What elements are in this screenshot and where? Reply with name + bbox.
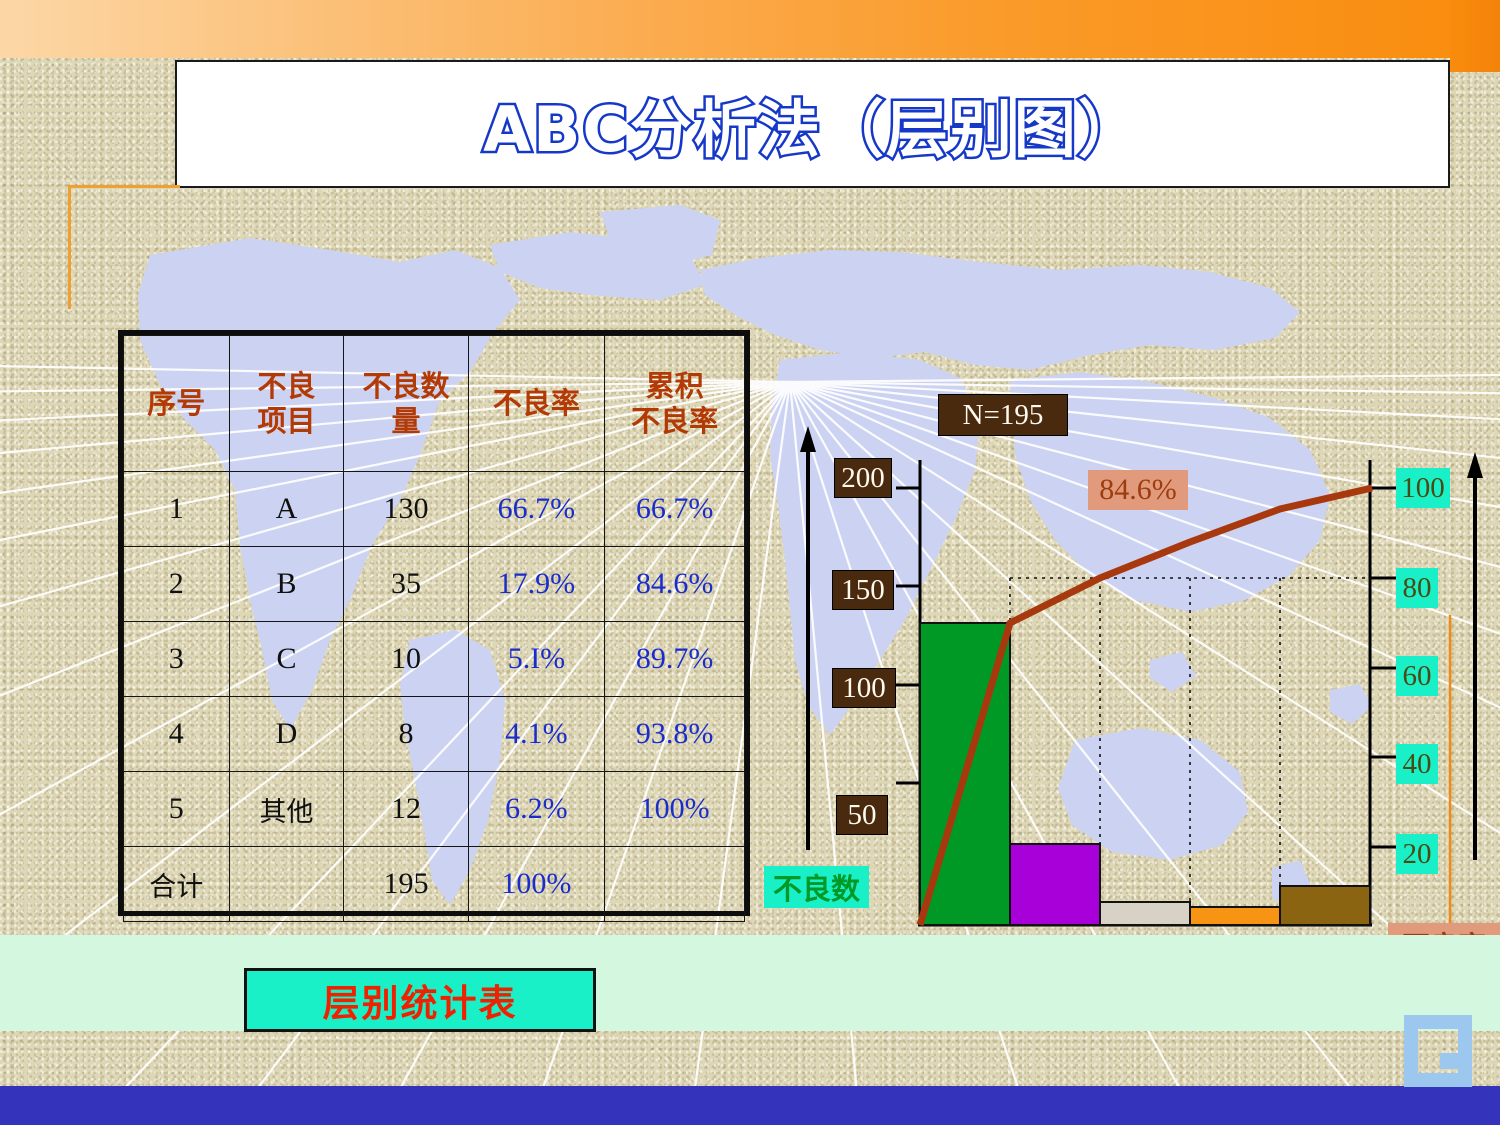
table-row: 3 C 10 5.I% 89.7%: [124, 622, 745, 697]
cell-count: 10: [344, 622, 468, 697]
bar-series: [920, 623, 1370, 925]
page-title: ABC分析法（层别图）: [483, 79, 1142, 169]
y2-tick-label-80: 80: [1396, 568, 1438, 608]
cell-cum: 89.7%: [605, 622, 745, 697]
cell-item: B: [229, 547, 344, 622]
cell-total-rate: 100%: [468, 847, 605, 922]
cell-count: 12: [344, 772, 468, 847]
table-row: 5 其他 12 6.2% 100%: [124, 772, 745, 847]
cell-total-label: 合计: [124, 847, 230, 922]
y-axis-title: 不良数: [764, 866, 869, 908]
cell-rate: 6.2%: [468, 772, 605, 847]
y-tick-label-200: 200: [834, 458, 892, 498]
cumulative-callout-label: 84.6%: [1088, 470, 1188, 510]
bar-other: [1280, 886, 1370, 925]
cell-no: 2: [124, 547, 230, 622]
caption-band: [0, 935, 1500, 1031]
y-tick-label-150: 150: [832, 570, 894, 610]
y2-tick-label-60: 60: [1396, 656, 1438, 696]
cell-cum: 100%: [605, 772, 745, 847]
cell-total-cum: [605, 847, 745, 922]
cell-item: C: [229, 622, 344, 697]
cell-cum: 66.7%: [605, 472, 745, 547]
sample-size-label: N=195: [938, 394, 1068, 436]
cell-item: A: [229, 472, 344, 547]
cell-rate: 66.7%: [468, 472, 605, 547]
caption-text: 层别统计表: [323, 973, 518, 1027]
cell-rate: 5.I%: [468, 622, 605, 697]
cell-total-count: 195: [344, 847, 468, 922]
cell-count: 130: [344, 472, 468, 547]
cell-item: D: [229, 697, 344, 772]
cell-count: 8: [344, 697, 468, 772]
left-axis-ticks: [896, 488, 920, 783]
top-accent-band-right: [1450, 0, 1500, 72]
cell-item: 其他: [229, 772, 344, 847]
col-header-no: 序号: [124, 336, 230, 472]
decorative-corner-shape: [1402, 1013, 1474, 1087]
title-plate: ABC分析法（层别图）: [175, 60, 1450, 188]
decorative-corner-bracket: [68, 185, 180, 309]
col-header-cum: 累积不良率: [605, 336, 745, 472]
caption-box: 层别统计表: [244, 968, 596, 1032]
bottom-bar: [0, 1086, 1500, 1125]
cell-cum: 84.6%: [605, 547, 745, 622]
col-header-rate: 不良率: [468, 336, 605, 472]
table-row: 1 A 130 66.7% 66.7%: [124, 472, 745, 547]
cell-rate: 4.1%: [468, 697, 605, 772]
y2-tick-label-20: 20: [1396, 834, 1438, 874]
y2-tick-label-100: 100: [1396, 468, 1450, 508]
bar-C: [1100, 902, 1190, 925]
table-header-row: 序号 不良项目 不良数量 不良率 累积不良率: [124, 336, 745, 472]
col-header-count: 不良数量: [344, 336, 468, 472]
cell-total-item: [229, 847, 344, 922]
table-row: 2 B 35 17.9% 84.6%: [124, 547, 745, 622]
cell-count: 35: [344, 547, 468, 622]
cell-no: 1: [124, 472, 230, 547]
left-axis-arrow: [800, 426, 816, 850]
bar-D: [1190, 907, 1280, 925]
cell-no: 3: [124, 622, 230, 697]
top-accent-band: [0, 0, 1500, 58]
stratification-table: 序号 不良项目 不良数量 不良率 累积不良率 1 A 130 66.7% 66.…: [118, 330, 750, 916]
table-row: 4 D 8 4.1% 93.8%: [124, 697, 745, 772]
table-total-row: 合计 195 100%: [124, 847, 745, 922]
cell-no: 4: [124, 697, 230, 772]
col-header-item: 不良项目: [229, 336, 344, 472]
right-axis-ticks: [1370, 488, 1396, 847]
y2-tick-label-40: 40: [1396, 744, 1438, 784]
y-tick-label-100: 100: [832, 668, 896, 708]
cell-rate: 17.9%: [468, 547, 605, 622]
cell-cum: 93.8%: [605, 697, 745, 772]
right-axis-arrow: [1467, 452, 1483, 860]
y-tick-label-50: 50: [836, 795, 888, 835]
cell-no: 5: [124, 772, 230, 847]
bar-B: [1010, 844, 1100, 925]
